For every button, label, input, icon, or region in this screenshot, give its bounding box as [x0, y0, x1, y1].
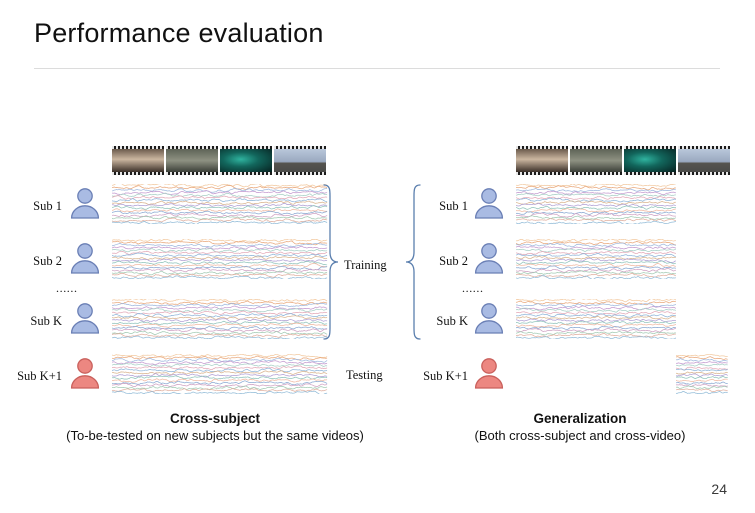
avatar-sub-2 — [472, 241, 506, 275]
filmstrip-right — [516, 146, 730, 175]
film-frame-2 — [570, 146, 622, 175]
film-perforation-icon — [678, 172, 730, 175]
sidebar-item-sub-1: Sub 1 — [406, 199, 468, 214]
sidebar-item-sub-k: Sub K — [406, 314, 468, 329]
avatar-sub-k — [472, 301, 506, 335]
ellipsis-label-right: ...... — [462, 281, 484, 296]
eeg-block-right-sub-2 — [516, 239, 676, 279]
caption-generalization-sub: (Both cross-subject and cross-video) — [420, 428, 740, 443]
panel-generalization: Sub 1 Sub 2 ...... Sub K Sub K+1 — [0, 0, 755, 513]
film-perforation-icon — [678, 146, 730, 149]
film-perforation-icon — [624, 146, 676, 149]
page-number: 24 — [711, 481, 727, 497]
film-frame-4-image — [678, 149, 730, 172]
film-frame-1 — [516, 146, 568, 175]
sidebar-item-sub-k-plus-1: Sub K+1 — [406, 369, 468, 384]
sidebar-item-sub-2: Sub 2 — [406, 254, 468, 269]
film-frame-4 — [678, 146, 730, 175]
film-perforation-icon — [570, 146, 622, 149]
film-perforation-icon — [624, 172, 676, 175]
slide-root: Performance evaluation — [0, 0, 755, 513]
caption-generalization-title: Generalization — [420, 411, 740, 426]
eeg-block-right-sub-k — [516, 299, 676, 339]
film-frame-3-image — [624, 149, 676, 172]
eeg-block-right-sub-k-plus-1 — [676, 354, 728, 394]
film-perforation-icon — [570, 172, 622, 175]
avatar-sub-1 — [472, 186, 506, 220]
film-perforation-icon — [516, 172, 568, 175]
avatar-sub-k-plus-1 — [472, 356, 506, 390]
caption-generalization: Generalization (Both cross-subject and c… — [420, 411, 740, 443]
film-frame-1-image — [516, 149, 568, 172]
eeg-block-right-sub-1 — [516, 184, 676, 224]
film-perforation-icon — [516, 146, 568, 149]
film-frame-2-image — [570, 149, 622, 172]
film-frame-3 — [624, 146, 676, 175]
